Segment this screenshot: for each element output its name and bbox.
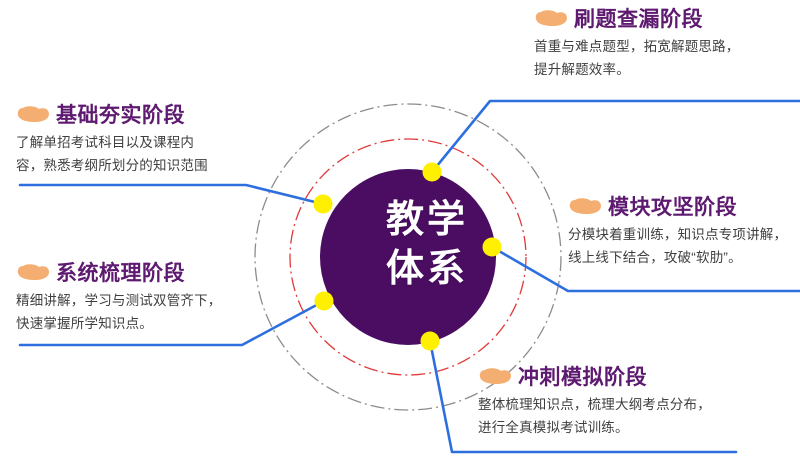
panel-basic-header: 基础夯实阶段 bbox=[16, 104, 252, 127]
peach-blob-icon bbox=[568, 197, 602, 219]
inner-dashdot-ring bbox=[290, 139, 526, 375]
node-basic[interactable] bbox=[314, 195, 333, 214]
panel-basic[interactable]: 基础夯实阶段 了解单招考试科目以及课程内 容，熟悉考纲所划分的知识范围 bbox=[16, 104, 252, 178]
center-hub-label: 教学 体系 bbox=[347, 196, 507, 293]
panel-drill[interactable]: 刷题查漏阶段 首重与难点题型，拓宽解题思路， 提升解题效率。 bbox=[534, 8, 796, 82]
panel-module-title: 模块攻坚阶段 bbox=[608, 196, 737, 219]
panel-drill-title: 刷题查漏阶段 bbox=[574, 8, 703, 31]
peach-blob-icon bbox=[16, 263, 50, 285]
peach-blob-icon bbox=[478, 367, 512, 389]
panel-systematic-header: 系统梳理阶段 bbox=[16, 262, 260, 285]
panel-sprint-header: 冲刺模拟阶段 bbox=[478, 366, 740, 389]
panel-basic-title: 基础夯实阶段 bbox=[56, 104, 185, 127]
panel-module-header: 模块攻坚阶段 bbox=[568, 196, 800, 219]
panel-systematic[interactable]: 系统梳理阶段 精细讲解，学习与测试双管齐下， 快速掌握所学知识点。 bbox=[16, 262, 260, 336]
panel-sprint[interactable]: 冲刺模拟阶段 整体梳理知识点，梳理大纲考点分布， 进行全真模拟考试训练。 bbox=[478, 366, 740, 440]
center-hub-circle bbox=[320, 169, 496, 345]
node-drill[interactable] bbox=[423, 163, 442, 182]
connector-basic bbox=[20, 185, 323, 204]
panel-systematic-title: 系统梳理阶段 bbox=[56, 262, 185, 285]
panel-sprint-body: 整体梳理知识点，梳理大纲考点分布， 进行全真模拟考试训练。 bbox=[478, 393, 740, 439]
panel-module-body: 分模块着重训练，知识点专项讲解， 线上线下结合，攻破“软肋”。 bbox=[568, 223, 800, 269]
panel-drill-body: 首重与难点题型，拓宽解题思路， 提升解题效率。 bbox=[534, 35, 796, 81]
panel-drill-header: 刷题查漏阶段 bbox=[534, 8, 796, 31]
panel-basic-body: 了解单招考试科目以及课程内 容，熟悉考纲所划分的知识范围 bbox=[16, 131, 252, 177]
peach-blob-icon bbox=[534, 9, 568, 31]
panel-module[interactable]: 模块攻坚阶段 分模块着重训练，知识点专项讲解， 线上线下结合，攻破“软肋”。 bbox=[568, 196, 800, 270]
teaching-system-diagram: 教学 体系 基础夯实阶段 了解单招考试科目以及课程内 容，熟悉考纲所划分的知识范… bbox=[0, 0, 800, 475]
peach-blob-icon bbox=[16, 105, 50, 127]
node-sprint[interactable] bbox=[421, 332, 440, 351]
connector-drill bbox=[432, 101, 800, 172]
node-systematic[interactable] bbox=[315, 292, 334, 311]
node-module[interactable] bbox=[483, 238, 502, 257]
panel-sprint-title: 冲刺模拟阶段 bbox=[518, 366, 647, 389]
outer-dashdot-ring bbox=[255, 104, 561, 410]
panel-systematic-body: 精细讲解，学习与测试双管齐下， 快速掌握所学知识点。 bbox=[16, 289, 260, 335]
